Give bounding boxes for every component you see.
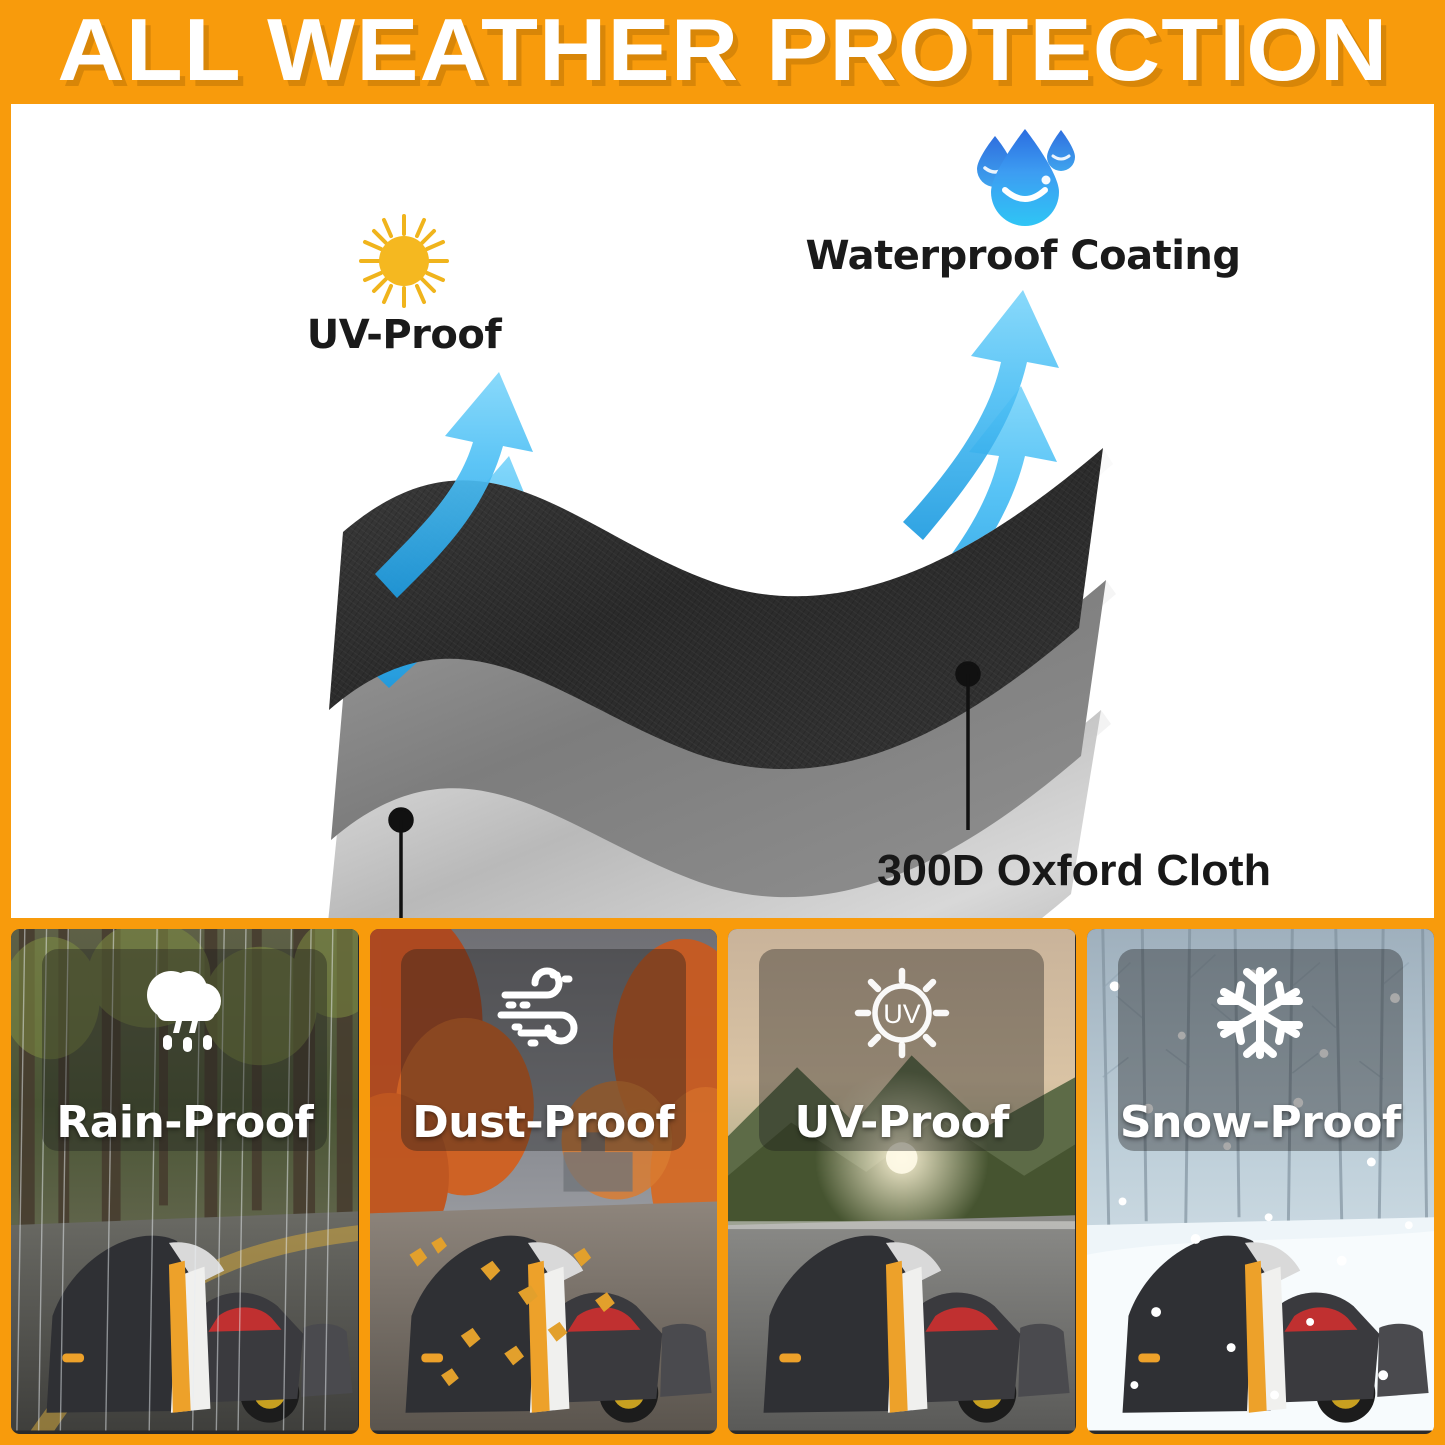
airflow-arrows xyxy=(364,386,1057,688)
feature-overlay-dust-proof: Dust-Proof xyxy=(401,949,686,1151)
diagram-frame: UV-Proof xyxy=(0,104,1445,918)
feature-overlay-uv-proof: UV UV-Proof xyxy=(759,949,1044,1151)
feature-label-uv-proof: UV-Proof xyxy=(795,1097,1009,1149)
header-banner: ALL WEATHER PROTECTION xyxy=(0,0,1445,104)
uv-icon-text: UV xyxy=(883,999,921,1029)
feature-label-rain-proof: Rain-Proof xyxy=(56,1097,313,1149)
label-300d-oxford-cloth: 300D Oxford Cloth xyxy=(877,846,1271,896)
product-infographic: ALL WEATHER PROTECTION xyxy=(0,0,1445,1445)
callout-waterproof-coating: Waterproof Coating xyxy=(753,124,1293,279)
feature-label-dust-proof: Dust-Proof xyxy=(412,1097,674,1149)
rain-cloud-icon xyxy=(137,965,233,1053)
fabric-layers-diagram: UV-Proof xyxy=(11,104,1434,918)
feature-strip: Rain-Proof xyxy=(0,918,1445,1445)
feature-card-dust-proof[interactable]: Dust-Proof xyxy=(370,929,718,1434)
feature-label-snow-proof: Snow-Proof xyxy=(1120,1097,1401,1149)
wind-icon xyxy=(491,965,595,1051)
feature-card-uv-proof[interactable]: UV UV-Proof xyxy=(728,929,1076,1434)
callout-uv-proof: UV-Proof xyxy=(279,200,529,358)
page-title: ALL WEATHER PROTECTION xyxy=(57,6,1388,98)
water-drops-icon xyxy=(933,124,1113,229)
uv-sun-icon: UV xyxy=(852,965,952,1061)
snowflake-icon xyxy=(1212,965,1308,1061)
callout-label-uv-proof: UV-Proof xyxy=(279,312,529,358)
sun-icon xyxy=(344,200,464,310)
feature-overlay-snow-proof: Snow-Proof xyxy=(1118,949,1403,1151)
feature-overlay-rain-proof: Rain-Proof xyxy=(42,949,327,1151)
callout-label-waterproof-coating: Waterproof Coating xyxy=(753,233,1293,279)
feature-card-snow-proof[interactable]: Snow-Proof xyxy=(1087,929,1435,1434)
layer-outer-oxford xyxy=(329,448,1113,769)
feature-card-rain-proof[interactable]: Rain-Proof xyxy=(11,929,359,1434)
